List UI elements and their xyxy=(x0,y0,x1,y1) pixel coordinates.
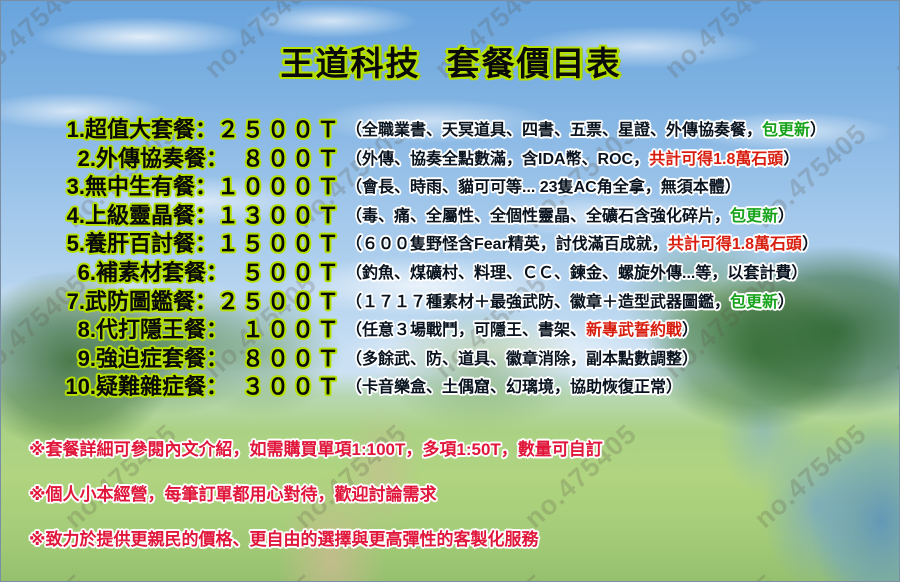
package-name: 無中生有餐： xyxy=(85,174,217,199)
package-description: （外傳、協奏全點數滿，含IDA幣、ROC，共計可得1.8萬石頭） xyxy=(346,141,900,169)
package-name: 強迫症套餐： xyxy=(96,346,217,371)
page-title: 王道科技套餐價目表 xyxy=(1,37,900,85)
package-price: ２５００Ｔ xyxy=(217,117,342,142)
package-price: １５００Ｔ xyxy=(217,231,342,256)
package-label: 1.超值大套餐：２５００Ｔ xyxy=(1,112,346,144)
description-highlight: 包更新 xyxy=(730,208,778,225)
package-label: 5.養肝百討餐：１５００Ｔ xyxy=(1,226,346,258)
package-description: （多餘武、防、道具、徽章消除，副本點數調整） xyxy=(346,341,900,369)
description-tail: ） xyxy=(682,322,698,339)
description-text: （全職業書、天冥道具、四書、五票、星證、外傳協奏餐， xyxy=(346,122,762,139)
package-name: 代打隱王餐： xyxy=(96,317,217,342)
package-description: （卡音樂盒、土偶窟、幻璃境，協助恢復正常） xyxy=(346,369,900,397)
title-subject: 套餐價目表 xyxy=(447,45,622,82)
footer-note: ※個人小本經營，每筆訂單都用心對待，歡迎討論需求 xyxy=(29,480,889,505)
footer-note: ※致力於提供更親民的價格、更自由的選擇與更高彈性的客製化服務 xyxy=(29,525,889,550)
description-highlight: 共計可得1.8萬石頭 xyxy=(649,151,783,168)
package-label: 8.代打隱王餐： １００Ｔ xyxy=(1,312,346,344)
description-highlight: 包更新 xyxy=(730,294,778,311)
package-label: 10.疑難雜症餐： ３００Ｔ xyxy=(1,369,346,401)
package-index: 10. xyxy=(65,374,96,399)
notes-list: ※套餐詳細可參閱內文介紹，如需購買單項1:100T，多項1:50T，數量可自訂※… xyxy=(29,435,889,570)
table-row: 3.無中生有餐：１０００Ｔ（會長、時雨、貓可可等... 23隻AC角全拿，無須本… xyxy=(1,169,900,198)
table-row: 10.疑難雜症餐： ３００Ｔ（卡音樂盒、土偶窟、幻璃境，協助恢復正常） xyxy=(1,369,900,398)
package-price: ３００Ｔ xyxy=(217,374,342,399)
package-label: 6.補素材套餐： ５００Ｔ xyxy=(1,255,346,287)
package-name: 養肝百討餐： xyxy=(85,231,217,256)
package-price: ５００Ｔ xyxy=(217,260,342,285)
package-description: （１７１７種素材＋最強武防、徽章＋造型武器圖鑑，包更新） xyxy=(346,284,900,312)
package-description: （任意３場戰鬥，可隱王、書架、新專武誓約戰） xyxy=(346,312,900,340)
package-index: 4. xyxy=(67,203,85,228)
package-price: ８００Ｔ xyxy=(217,146,342,171)
package-index: 3. xyxy=(67,174,85,199)
description-highlight: 新專武誓約戰 xyxy=(586,322,682,339)
package-name: 武防圖鑑餐： xyxy=(85,289,217,314)
package-label: 2.外傳協奏餐： ８００Ｔ xyxy=(1,141,346,173)
package-index: 1. xyxy=(67,117,85,142)
package-price: ２５００Ｔ xyxy=(217,289,342,314)
package-index: 9. xyxy=(78,346,96,371)
package-description: （釣魚、煤礦村、料理、ＣＣ、鍊金、螺旋外傳...等，以套計費） xyxy=(346,255,900,283)
description-tail: ） xyxy=(783,151,799,168)
package-name: 外傳協奏餐： xyxy=(96,146,217,171)
description-text: （６００隻野怪含Fear精英，討伐滿百成就， xyxy=(346,236,668,253)
table-row: 7.武防圖鑑餐：２５００Ｔ（１７１７種素材＋最強武防、徽章＋造型武器圖鑑，包更新… xyxy=(1,284,900,313)
package-description: （毒、痛、全屬性、全個性靈晶、全礦石含強化碎片，包更新） xyxy=(346,198,900,226)
table-row: 1.超值大套餐：２５００Ｔ（全職業書、天冥道具、四書、五票、星證、外傳協奏餐，包… xyxy=(1,112,900,141)
description-tail: ） xyxy=(802,236,818,253)
description-text: （多餘武、防、道具、徽章消除，副本點數調整） xyxy=(346,351,698,368)
description-highlight: 包更新 xyxy=(762,122,810,139)
description-text: （外傳、協奏全點數滿，含IDA幣、ROC， xyxy=(346,151,649,168)
table-row: 5.養肝百討餐：１５００Ｔ（６００隻野怪含Fear精英，討伐滿百成就，共計可得1… xyxy=(1,226,900,255)
table-row: 4.上級靈晶餐：１３００Ｔ（毒、痛、全屬性、全個性靈晶、全礦石含強化碎片，包更新… xyxy=(1,198,900,227)
table-row: 9.強迫症套餐： ８００Ｔ（多餘武、防、道具、徽章消除，副本點數調整） xyxy=(1,341,900,370)
package-description: （會長、時雨、貓可可等... 23隻AC角全拿，無須本體） xyxy=(346,169,900,197)
package-price: １００Ｔ xyxy=(217,317,342,342)
description-text: （會長、時雨、貓可可等... 23隻AC角全拿，無須本體） xyxy=(346,179,741,196)
package-label: 9.強迫症套餐： ８００Ｔ xyxy=(1,341,346,373)
package-index: 7. xyxy=(67,289,85,314)
package-list: 1.超值大套餐：２５００Ｔ（全職業書、天冥道具、四書、五票、星證、外傳協奏餐，包… xyxy=(1,112,900,398)
package-label: 7.武防圖鑑餐：２５００Ｔ xyxy=(1,284,346,316)
package-label: 3.無中生有餐：１０００Ｔ xyxy=(1,169,346,201)
table-row: 6.補素材套餐： ５００Ｔ（釣魚、煤礦村、料理、ＣＣ、鍊金、螺旋外傳...等，以… xyxy=(1,255,900,284)
description-text: （毒、痛、全屬性、全個性靈晶、全礦石含強化碎片， xyxy=(346,208,730,225)
package-price: １３００Ｔ xyxy=(217,203,342,228)
table-row: 2.外傳協奏餐： ８００Ｔ（外傳、協奏全點數滿，含IDA幣、ROC，共計可得1.… xyxy=(1,141,900,170)
package-price: ８００Ｔ xyxy=(217,346,342,371)
package-name: 補素材套餐： xyxy=(96,260,217,285)
table-row: 8.代打隱王餐： １００Ｔ（任意３場戰鬥，可隱王、書架、新專武誓約戰） xyxy=(1,312,900,341)
description-highlight: 共計可得1.8萬石頭 xyxy=(668,236,802,253)
description-text: （１７１７種素材＋最強武防、徽章＋造型武器圖鑑， xyxy=(346,294,730,311)
package-name: 疑難雜症餐： xyxy=(96,374,217,399)
description-tail: ） xyxy=(778,208,794,225)
title-brand: 王道科技 xyxy=(281,45,421,82)
description-text: （釣魚、煤礦村、料理、ＣＣ、鍊金、螺旋外傳...等，以套計費） xyxy=(346,265,807,282)
package-label: 4.上級靈晶餐：１３００Ｔ xyxy=(1,198,346,230)
package-description: （全職業書、天冥道具、四書、五票、星證、外傳協奏餐，包更新） xyxy=(346,112,900,140)
package-index: 5. xyxy=(67,231,85,256)
package-description: （６００隻野怪含Fear精英，討伐滿百成就，共計可得1.8萬石頭） xyxy=(346,226,900,254)
price-list-poster: no.475405no.475405no.475405no.475405no.4… xyxy=(0,0,900,582)
package-price: １０００Ｔ xyxy=(217,174,342,199)
description-tail: ） xyxy=(810,122,826,139)
package-name: 超值大套餐： xyxy=(85,117,217,142)
package-index: 6. xyxy=(78,260,96,285)
package-index: 2. xyxy=(78,146,96,171)
description-text: （卡音樂盒、土偶窟、幻璃境，協助恢復正常） xyxy=(346,379,682,396)
description-tail: ） xyxy=(778,294,794,311)
package-index: 8. xyxy=(78,317,96,342)
description-text: （任意３場戰鬥，可隱王、書架、 xyxy=(346,322,586,339)
poster-content: 王道科技套餐價目表 1.超值大套餐：２５００Ｔ（全職業書、天冥道具、四書、五票、… xyxy=(1,1,899,581)
footer-note: ※套餐詳細可參閱內文介紹，如需購買單項1:100T，多項1:50T，數量可自訂 xyxy=(29,435,889,460)
package-name: 上級靈晶餐： xyxy=(85,203,217,228)
